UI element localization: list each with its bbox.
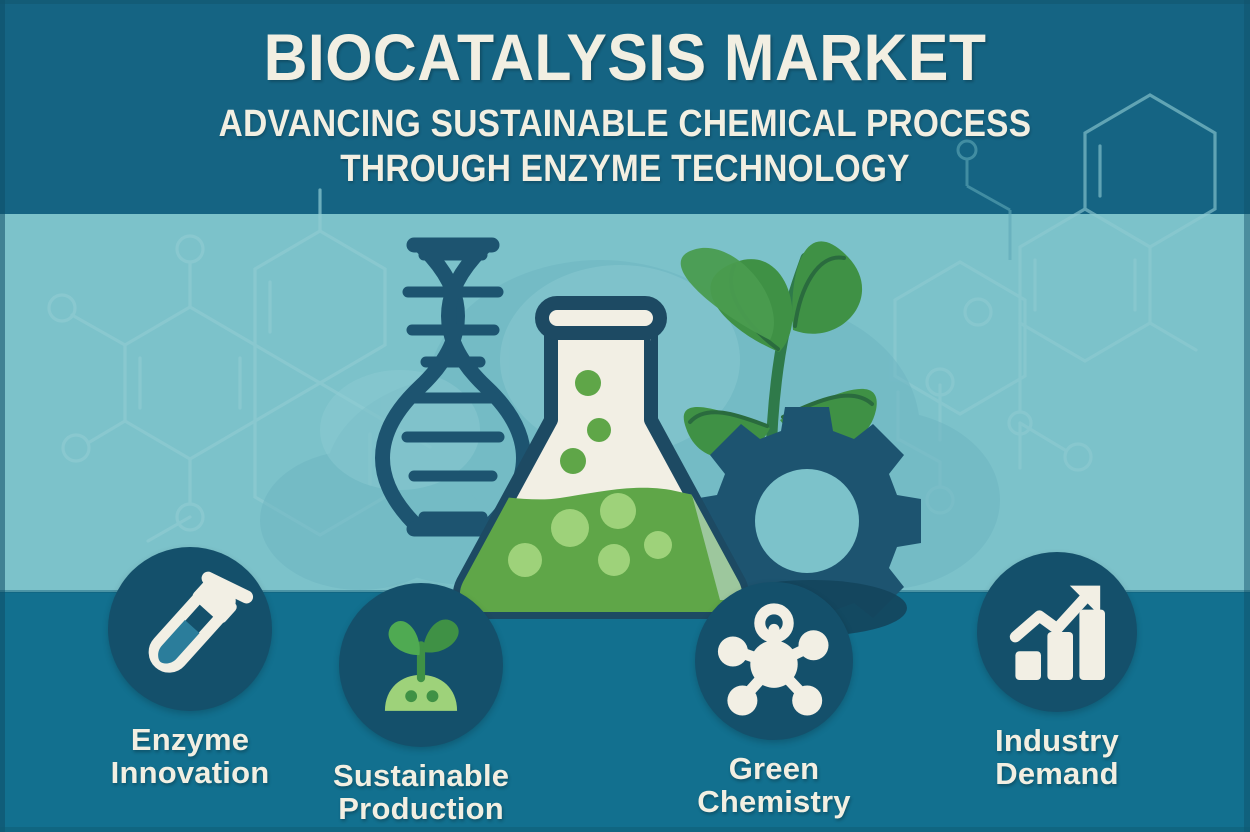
feature-sustainable-production[interactable]: Sustainable Production — [333, 583, 509, 826]
feature-label: Industry Demand — [977, 724, 1137, 791]
dna-helix-icon — [383, 245, 524, 529]
feature-industry-demand[interactable]: Industry Demand — [977, 552, 1137, 791]
flask-bubble — [560, 448, 586, 474]
header-text-block: BIOCATALYSIS MARKET ADVANCING SUSTAINABL… — [0, 0, 1250, 214]
feature-circle[interactable] — [695, 582, 853, 740]
feature-label: Enzyme Innovation — [108, 723, 272, 790]
page-title: BIOCATALYSIS MARKET — [50, 0, 1200, 90]
feature-circle[interactable] — [108, 547, 272, 711]
subtitle-line-1: ADVANCING SUSTAINABLE CHEMICAL PROCESS — [75, 90, 1175, 146]
infographic-poster: BIOCATALYSIS MARKET ADVANCING SUSTAINABL… — [0, 0, 1250, 832]
feature-circle[interactable] — [339, 583, 503, 747]
feature-green-chemistry[interactable]: Green Chemistry — [695, 582, 853, 819]
test-tube-icon — [108, 547, 272, 711]
feature-circle[interactable] — [977, 552, 1137, 712]
subtitle-line-2: THROUGH ENZYME TECHNOLOGY — [75, 146, 1175, 191]
sprout-in-soil-icon — [339, 583, 503, 747]
flask-bubble — [575, 370, 601, 396]
flask-bubble — [587, 418, 611, 442]
feature-enzyme-innovation[interactable]: Enzyme Innovation — [108, 547, 272, 790]
molecule-node-icon — [695, 582, 853, 740]
feature-label: Sustainable Production — [333, 759, 509, 826]
feature-label: Green Chemistry — [695, 752, 853, 819]
growth-bar-chart-icon — [977, 552, 1137, 712]
